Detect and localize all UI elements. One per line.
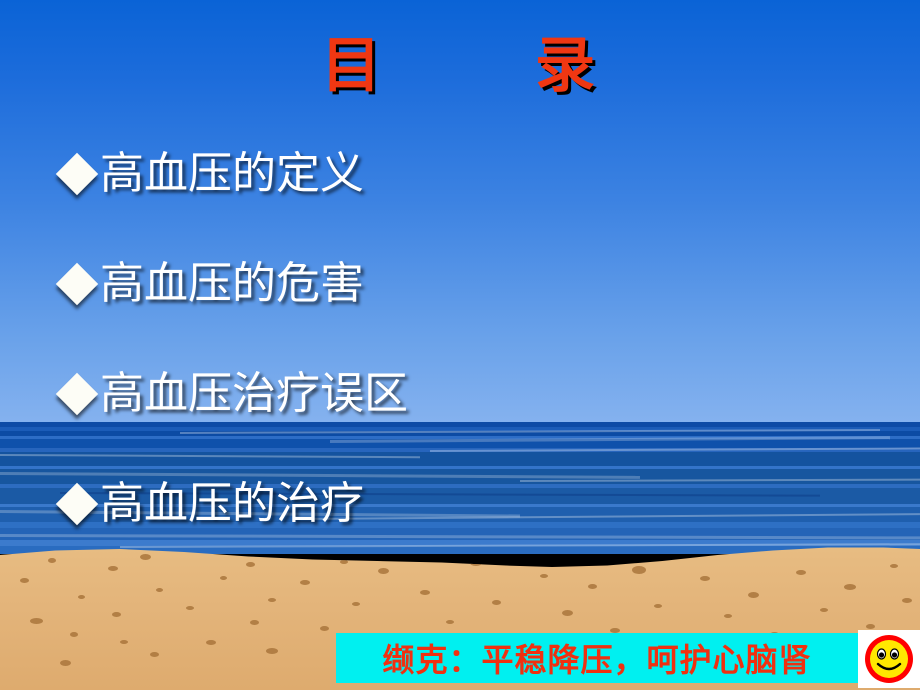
wave-streak: [0, 454, 420, 458]
sand-speck: [78, 595, 85, 599]
sand-speck: [250, 620, 259, 625]
sand-speck: [156, 588, 163, 592]
bullet-item-4[interactable]: 高血压的治疗: [62, 476, 364, 532]
sand-speck: [340, 560, 348, 564]
sand-speck: [186, 606, 194, 610]
wave-streak: [0, 534, 920, 539]
title-char-right: 录: [535, 31, 599, 101]
sand-speck: [470, 560, 482, 566]
sand-speck: [540, 574, 548, 578]
bullet-item-label: 高血压的定义: [98, 152, 364, 196]
sand-speck: [844, 584, 856, 590]
sand-speck: [446, 620, 454, 624]
sand-speck: [140, 554, 151, 560]
sand-speck: [420, 590, 430, 595]
smiley-face-badge: [858, 630, 920, 688]
sand-speck: [246, 562, 255, 567]
sand-speck: [30, 618, 43, 624]
sand-speck: [588, 584, 597, 589]
diamond-bullet-icon: [56, 263, 98, 305]
slide-title: 目录: [0, 36, 920, 96]
sand-speck: [20, 578, 29, 583]
sand-speck: [902, 598, 912, 603]
sand-speck: [562, 610, 573, 616]
banner-text: 缬克：平稳降压，呵护心脑肾: [382, 635, 811, 681]
presentation-slide: 目录 高血压的定义 高血压的危害 高血压治疗误区 高血压的治疗 缬克：平稳降压，…: [0, 0, 920, 690]
sand-speck: [378, 568, 389, 574]
sand-speck: [48, 558, 56, 563]
sand-speck: [300, 580, 310, 585]
wave-streak: [330, 436, 890, 443]
sand-speck: [120, 640, 128, 644]
bullet-item-3[interactable]: 高血压治疗误区: [62, 366, 408, 422]
wave-streak: [180, 429, 880, 434]
bullet-item-1[interactable]: 高血压的定义: [62, 146, 364, 202]
sand-speck: [748, 592, 759, 598]
wave-streak: [520, 479, 920, 482]
sand-speck: [150, 652, 159, 657]
sand-speck: [352, 602, 360, 606]
sand-speck: [320, 626, 329, 631]
diamond-bullet-icon: [56, 483, 98, 525]
title-char-left: 目: [321, 31, 385, 101]
sand-speck: [112, 612, 121, 617]
sand-speck: [108, 566, 118, 571]
bullet-item-label: 高血压的治疗: [98, 482, 364, 526]
diamond-bullet-icon: [56, 373, 98, 415]
sand-speck: [866, 624, 875, 629]
sand-speck: [890, 564, 898, 568]
sand-speck: [654, 604, 662, 608]
sand-speck: [266, 648, 278, 654]
wave-streak: [120, 543, 920, 548]
sand-speck: [724, 614, 732, 618]
sand-speck: [268, 598, 276, 602]
sand-speck: [700, 576, 710, 581]
diamond-bullet-icon: [56, 153, 98, 195]
sand-speck: [796, 570, 806, 575]
bullet-item-2[interactable]: 高血压的危害: [62, 256, 364, 312]
wave-streak: [430, 447, 920, 452]
sand-speck: [60, 660, 71, 666]
sand-speck: [206, 640, 216, 645]
sand-speck: [220, 576, 227, 580]
sand-speck: [820, 608, 828, 612]
sand-speck: [492, 600, 501, 605]
bullet-item-label: 高血压治疗误区: [98, 372, 408, 416]
sand-speck: [70, 632, 78, 637]
bottom-banner: 缬克：平稳降压，呵护心脑肾: [336, 633, 858, 683]
smiley-face-icon: [863, 633, 915, 685]
sand-speck: [632, 566, 646, 574]
bullet-item-label: 高血压的危害: [98, 262, 364, 306]
